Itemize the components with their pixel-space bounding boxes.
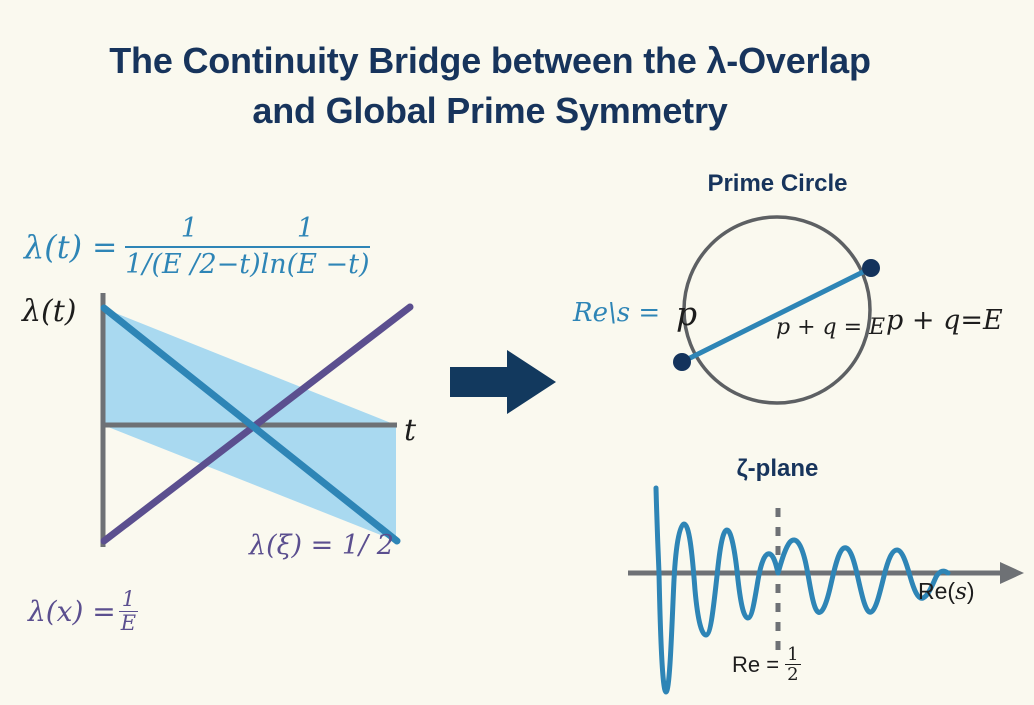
- page-title: The Continuity Bridge between the λ-Over…: [0, 36, 980, 136]
- zeta-axis-label-var: s: [955, 579, 967, 605]
- critical-line-denominator: 2: [785, 664, 800, 684]
- critical-line-fraction: 1 2: [785, 645, 800, 685]
- zeta-oscillation-curve: [656, 488, 948, 692]
- critical-line-label: Re = 1 2: [732, 645, 801, 685]
- formula-fraction: 1 1 1/(E /2−t)ln(E −t): [125, 214, 369, 280]
- slide-canvas: The Continuity Bridge between the λ-Over…: [0, 0, 1034, 705]
- lower-shaded-region: [103, 425, 396, 541]
- prime-circle-title: Prime Circle: [645, 170, 910, 198]
- critical-line-numerator: 1: [785, 645, 800, 664]
- prime-point-q-dot: [862, 259, 880, 277]
- zeta-axis-label-prefix: Re(: [918, 578, 955, 604]
- formula-numerator-right: 1: [271, 214, 340, 244]
- zeta-axis-label-suffix: ): [967, 578, 975, 604]
- prime-point-p-dot: [673, 353, 691, 371]
- right-arrow-icon: [443, 345, 563, 420]
- formula-denominator: 1/(E /2−t)ln(E −t): [125, 246, 369, 280]
- chord-sum-label-inner: p + q = E: [776, 315, 885, 340]
- lambda-x-numerator: 1: [119, 588, 138, 611]
- formula-numerator-left: 1: [155, 214, 224, 244]
- lambda-x-denominator: E: [119, 611, 138, 635]
- lambda-x-fraction: 1 E: [119, 588, 138, 634]
- arrow-shape: [450, 350, 556, 414]
- prime-point-p-label: p: [676, 294, 697, 333]
- lambda-definition-formula: λ(t) = 1 1 1/(E /2−t)ln(E −t): [24, 214, 370, 280]
- lambda-x-lhs: λ(x) =: [28, 595, 116, 628]
- formula-lhs: λ(t): [24, 228, 82, 266]
- zeta-axis-label: Re(s): [918, 578, 975, 605]
- upper-shaded-region: [103, 308, 396, 425]
- lambda-xi-label: λ(ξ) = 1/ 2: [249, 530, 394, 561]
- formula-equals: =: [92, 230, 117, 265]
- lambda-x-formula: λ(x) = 1 E: [28, 588, 138, 634]
- zeta-axis-arrowhead: [1000, 562, 1024, 584]
- re-s-label: Re\s =: [573, 298, 660, 328]
- critical-line-label-text: Re =: [732, 652, 779, 678]
- prime-circle-outline: [684, 217, 870, 403]
- zeta-plane-title: ζ-plane: [645, 455, 910, 483]
- formula-numerators: 1 1: [125, 214, 369, 246]
- title-line-2: and Global Prime Symmetry: [0, 86, 980, 136]
- title-line-1: The Continuity Bridge between the λ-Over…: [0, 36, 980, 86]
- chord-sum-label-outer: p + q=E: [886, 305, 1003, 336]
